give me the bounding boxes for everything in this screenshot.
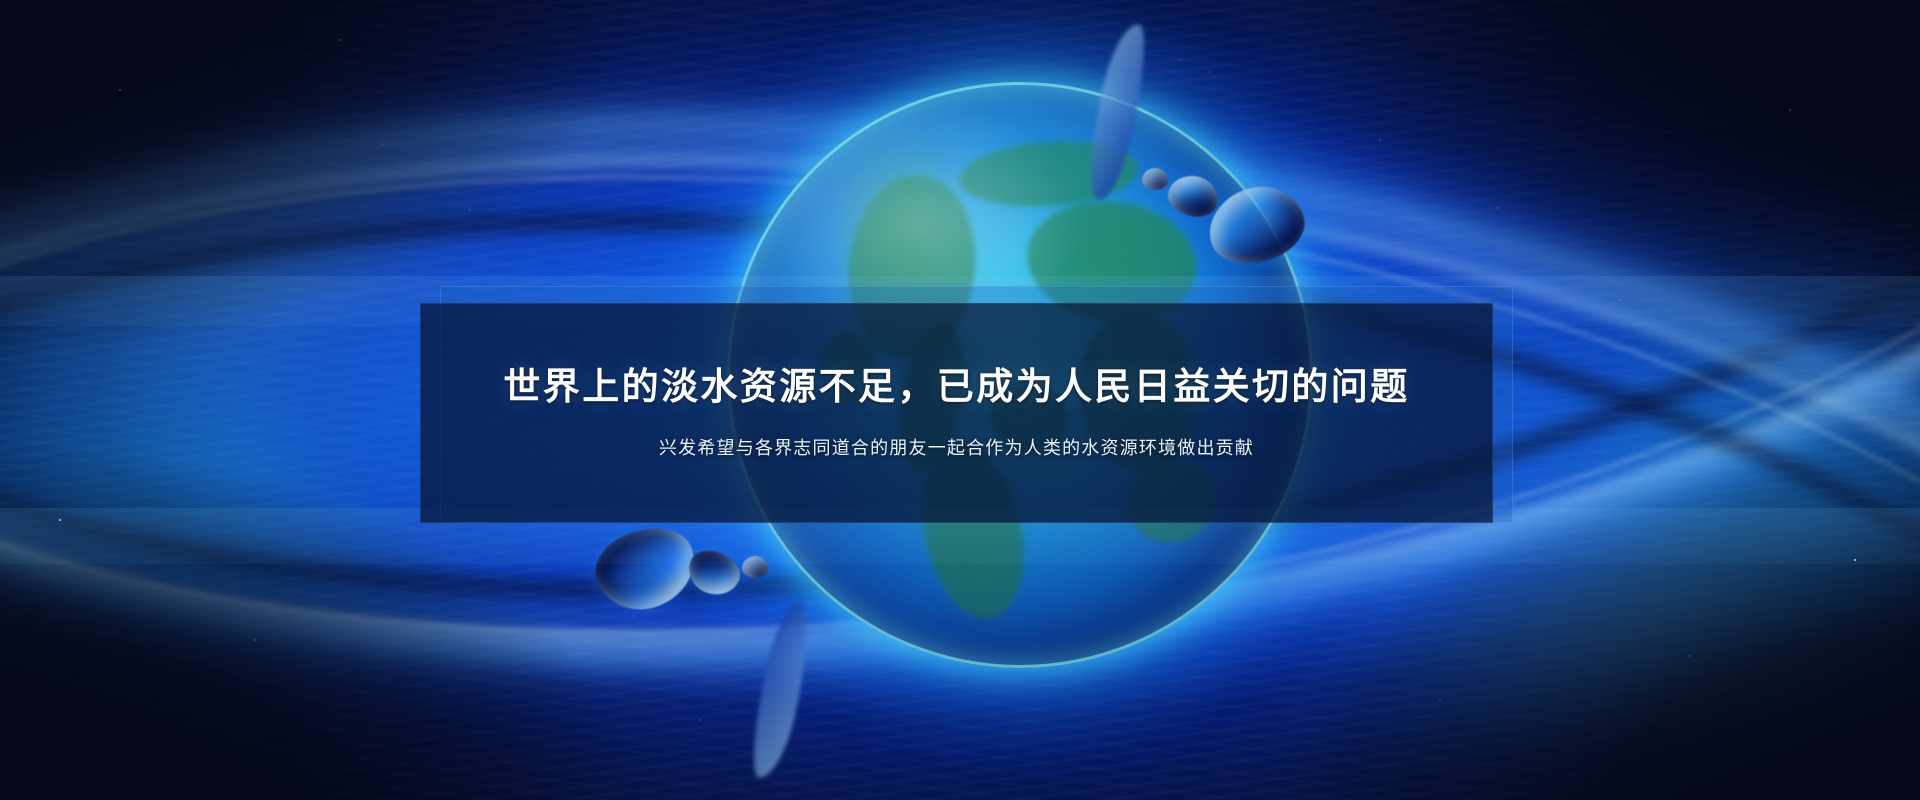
- banner-subheadline: 兴发希望与各界志同道合的朋友一起合作为人类的水资源环境做出贡献: [659, 436, 1254, 461]
- water-droplet-top-3: [1142, 168, 1168, 190]
- hero-banner: 世界上的淡水资源不足，已成为人民日益关切的问题 兴发希望与各界志同道合的朋友一起…: [0, 0, 1920, 800]
- text-plate: 世界上的淡水资源不足，已成为人民日益关切的问题 兴发希望与各界志同道合的朋友一起…: [420, 303, 1493, 523]
- water-droplet-bottom-3: [742, 556, 768, 578]
- banner-headline: 世界上的淡水资源不足，已成为人民日益关切的问题: [503, 365, 1409, 409]
